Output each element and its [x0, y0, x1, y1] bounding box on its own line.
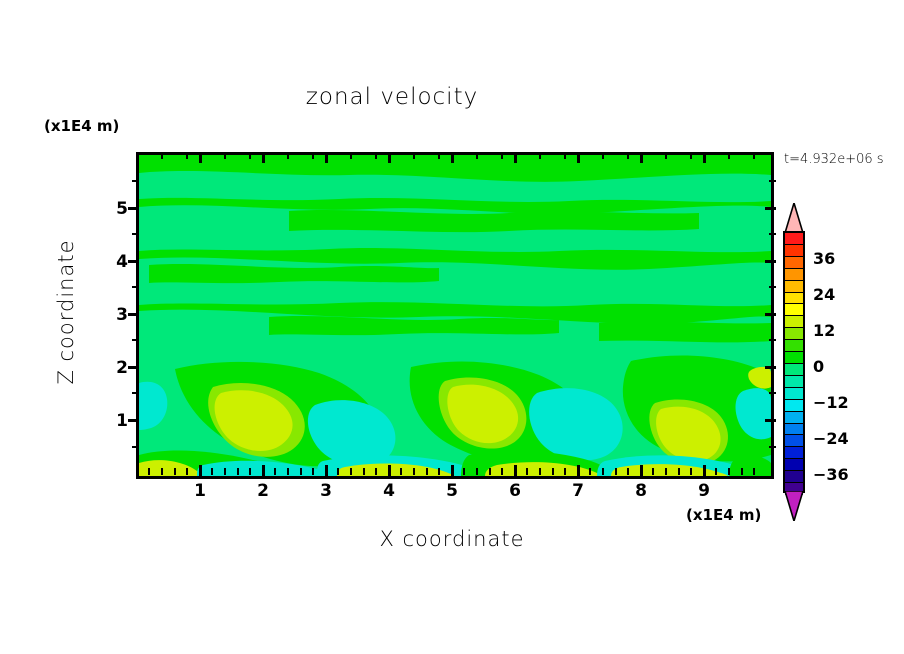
x-tick-top-major	[640, 152, 643, 163]
colorbar-band	[785, 364, 803, 376]
colorbar-label: −24	[813, 429, 849, 448]
colorbar-band	[785, 400, 803, 412]
x-tick-minor	[287, 468, 289, 475]
y-tick-right-major	[765, 366, 776, 369]
x-tick-top-minor	[627, 152, 629, 159]
colorbar-band	[785, 376, 803, 388]
x-tick-minor	[678, 468, 680, 475]
colorbar-band	[785, 269, 803, 281]
colorbar-label: 36	[813, 249, 835, 268]
x-tick-minor	[237, 468, 239, 475]
x-tick-minor	[652, 468, 654, 475]
y-tick-right-major	[765, 313, 776, 316]
colorbar-band	[785, 257, 803, 269]
y-axis-unit-label: (x1E4 m)	[44, 117, 119, 135]
x-tick-minor	[602, 468, 604, 475]
y-tick-major	[128, 313, 139, 316]
x-tick-minor	[627, 468, 629, 475]
x-tick-label: 9	[689, 481, 719, 501]
x-tick-top-major	[703, 152, 706, 163]
x-tick-top-major	[262, 152, 265, 163]
x-tick-minor	[249, 468, 251, 475]
x-tick-top-minor	[249, 152, 251, 159]
x-tick-minor	[539, 468, 541, 475]
x-tick-top-minor	[375, 152, 377, 159]
x-tick-minor	[728, 468, 730, 475]
x-tick-major	[199, 465, 202, 476]
x-tick-minor	[438, 468, 440, 475]
colorbar-band	[785, 304, 803, 316]
chart-title: zonal velocity	[0, 84, 784, 110]
x-tick-top-major	[388, 152, 391, 163]
colorbar-bands[interactable]	[783, 231, 805, 493]
x-tick-minor	[665, 468, 667, 475]
y-tick-label: 4	[98, 252, 128, 272]
y-tick-minor	[132, 339, 139, 341]
y-tick-minor	[132, 392, 139, 394]
colorbar-band	[785, 447, 803, 459]
y-tick-right-minor	[769, 180, 776, 182]
x-axis-unit-label: (x1E4 m)	[686, 506, 761, 524]
colorbar-band	[785, 316, 803, 328]
x-tick-label: 7	[563, 481, 593, 501]
colorbar-label: 0	[813, 357, 824, 376]
colorbar-band	[785, 233, 803, 245]
x-tick-minor	[476, 468, 478, 475]
y-tick-minor	[132, 180, 139, 182]
colorbar-band	[785, 471, 803, 483]
x-tick-top-minor	[564, 152, 566, 159]
y-tick-right-minor	[769, 233, 776, 235]
colorbar-label: 12	[813, 321, 835, 340]
x-tick-minor	[589, 468, 591, 475]
colorbar-band	[785, 293, 803, 305]
x-tick-minor	[211, 468, 213, 475]
y-tick-major	[128, 207, 139, 210]
x-tick-major	[703, 465, 706, 476]
y-tick-right-minor	[769, 286, 776, 288]
x-tick-minor	[363, 468, 365, 475]
x-tick-top-minor	[287, 152, 289, 159]
x-tick-major	[451, 465, 454, 476]
timestamp-label: t=4.932e+06 s	[784, 152, 884, 167]
x-tick-top-major	[325, 152, 328, 163]
x-tick-top-minor	[224, 152, 226, 159]
x-tick-minor	[463, 468, 465, 475]
x-tick-minor	[413, 468, 415, 475]
x-tick-top-minor	[602, 152, 604, 159]
colorbar-band	[785, 424, 803, 436]
x-tick-major	[577, 465, 580, 476]
x-tick-minor	[375, 468, 377, 475]
x-tick-minor	[148, 468, 150, 475]
colorbar-band	[785, 281, 803, 293]
x-tick-minor	[161, 468, 163, 475]
y-tick-right-minor	[769, 392, 776, 394]
colorbar-band	[785, 412, 803, 424]
x-tick-minor	[274, 468, 276, 475]
x-tick-major	[325, 465, 328, 476]
y-axis-title: Z coordinate	[54, 212, 78, 412]
contour-field	[139, 155, 771, 476]
x-tick-label: 4	[374, 481, 404, 501]
x-tick-minor	[615, 468, 617, 475]
y-tick-right-major	[765, 260, 776, 263]
x-tick-minor	[753, 468, 755, 475]
x-tick-label: 2	[248, 481, 278, 501]
x-tick-minor	[400, 468, 402, 475]
colorbar-band	[785, 245, 803, 257]
x-tick-minor	[224, 468, 226, 475]
y-tick-minor	[132, 446, 139, 448]
x-axis-title: X coordinate	[136, 527, 768, 551]
colorbar-band	[785, 340, 803, 352]
contour-plot-area[interactable]	[136, 152, 774, 479]
x-tick-top-major	[577, 152, 580, 163]
x-tick-top-minor	[728, 152, 730, 159]
x-tick-major	[514, 465, 517, 476]
x-tick-minor	[337, 468, 339, 475]
colorbar-band	[785, 388, 803, 400]
x-tick-minor	[186, 468, 188, 475]
x-tick-minor	[174, 468, 176, 475]
x-tick-top-minor	[413, 152, 415, 159]
x-tick-top-minor	[161, 152, 163, 159]
x-tick-top-minor	[312, 152, 314, 159]
x-tick-major	[262, 465, 265, 476]
y-tick-minor	[132, 286, 139, 288]
x-tick-top-minor	[690, 152, 692, 159]
x-tick-minor	[564, 468, 566, 475]
y-tick-major	[128, 419, 139, 422]
x-tick-minor	[350, 468, 352, 475]
x-tick-major	[388, 465, 391, 476]
x-tick-minor	[426, 468, 428, 475]
x-tick-minor	[690, 468, 692, 475]
x-tick-top-minor	[753, 152, 755, 159]
x-tick-top-minor	[539, 152, 541, 159]
y-tick-label: 3	[98, 305, 128, 325]
y-tick-right-minor	[769, 446, 776, 448]
y-tick-right-major	[765, 207, 776, 210]
y-tick-label: 1	[98, 411, 128, 431]
colorbar-label: −12	[813, 393, 849, 412]
x-tick-top-minor	[438, 152, 440, 159]
x-tick-top-minor	[501, 152, 503, 159]
y-tick-label: 2	[98, 358, 128, 378]
colorbar-band	[785, 352, 803, 364]
colorbar-band	[785, 459, 803, 471]
x-tick-label: 5	[437, 481, 467, 501]
x-tick-top-major	[514, 152, 517, 163]
x-tick-minor	[715, 468, 717, 475]
x-tick-minor	[552, 468, 554, 475]
x-tick-top-minor	[476, 152, 478, 159]
x-tick-label: 3	[311, 481, 341, 501]
x-tick-minor	[741, 468, 743, 475]
x-tick-label: 8	[626, 481, 656, 501]
x-tick-top-minor	[350, 152, 352, 159]
x-tick-label: 1	[185, 481, 215, 501]
y-tick-major	[128, 366, 139, 369]
y-tick-right-minor	[769, 339, 776, 341]
y-tick-label: 5	[98, 199, 128, 219]
x-tick-top-minor	[186, 152, 188, 159]
y-tick-minor	[132, 233, 139, 235]
colorbar[interactable]: 36 24 12 0 −12 −24 −36	[783, 203, 807, 521]
colorbar-band	[785, 435, 803, 447]
x-tick-top-minor	[665, 152, 667, 159]
colorbar-under-arrow	[783, 491, 805, 521]
x-tick-major	[640, 465, 643, 476]
x-tick-minor	[489, 468, 491, 475]
colorbar-label: 24	[813, 285, 835, 304]
x-tick-top-major	[451, 152, 454, 163]
x-tick-minor	[300, 468, 302, 475]
colorbar-label: −36	[813, 465, 849, 484]
y-tick-major	[128, 260, 139, 263]
x-tick-top-major	[199, 152, 202, 163]
x-tick-minor	[501, 468, 503, 475]
x-tick-label: 6	[500, 481, 530, 501]
y-tick-right-major	[765, 419, 776, 422]
x-tick-minor	[312, 468, 314, 475]
colorbar-over-arrow	[783, 203, 805, 233]
x-tick-minor	[526, 468, 528, 475]
colorbar-band	[785, 328, 803, 340]
